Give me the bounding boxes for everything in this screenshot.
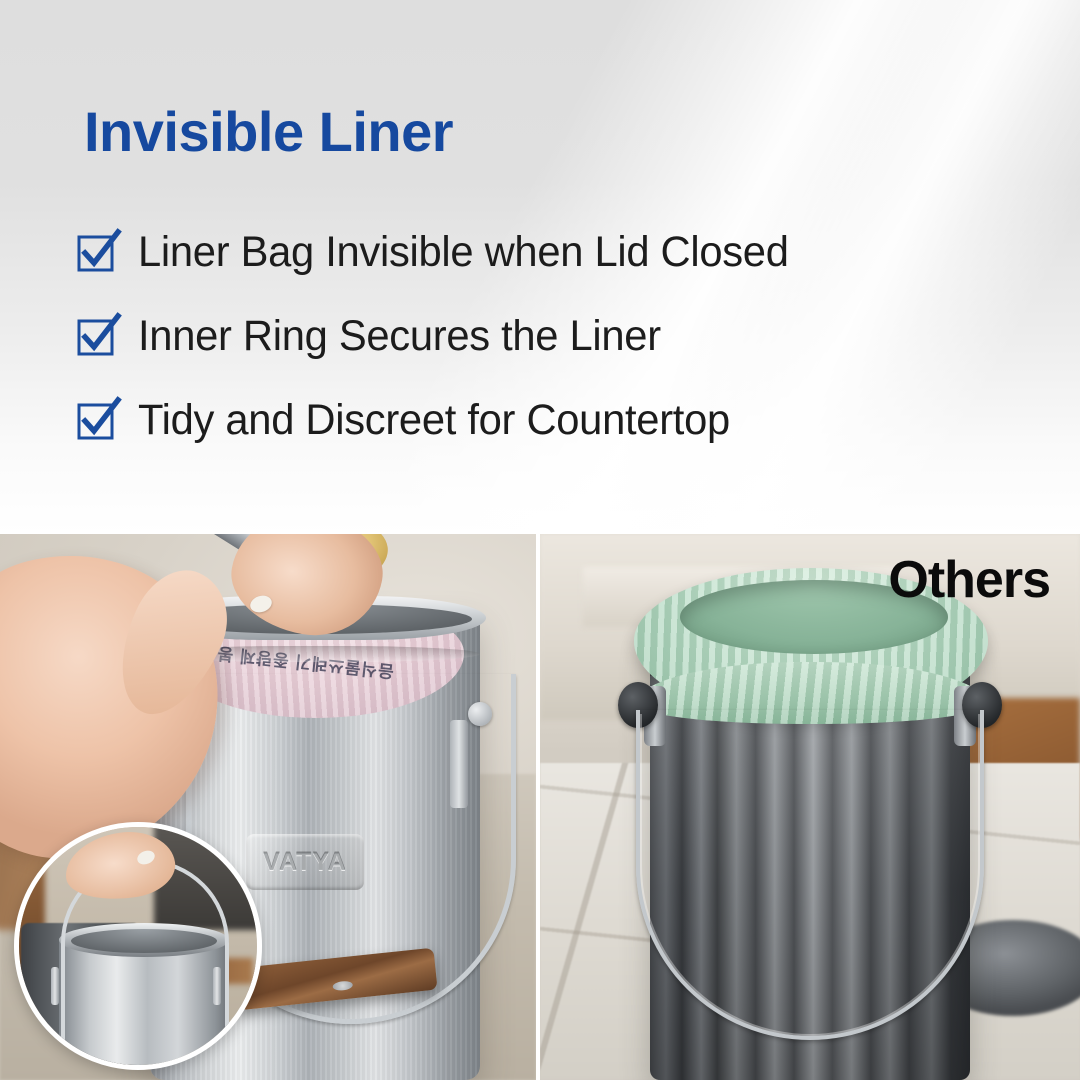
photo-divider — [536, 534, 540, 1080]
feature-item: Liner Bag Invisible when Lid Closed — [76, 222, 1036, 282]
comparison-pane-others: Others — [540, 534, 1080, 1080]
feature-item: Inner Ring Secures the Liner — [76, 306, 1036, 366]
handle-bracket — [450, 720, 468, 808]
page-title: Invisible Liner — [84, 104, 453, 160]
comparison-pane-vatya: 서 음식물쓰레기 종량제 봉투 VATYA — [0, 534, 536, 1080]
handle-pivot — [468, 702, 492, 726]
inner-ring-inset-photo — [14, 822, 262, 1070]
feature-item: Tidy and Discreet for Countertop — [76, 390, 1036, 450]
feature-label: Tidy and Discreet for Countertop — [138, 399, 730, 442]
checkbox-checked-icon — [76, 316, 116, 356]
comparison-photos: 서 음식물쓰레기 종량제 봉투 VATYA — [0, 534, 1080, 1080]
feature-list: Liner Bag Invisible when Lid Closed Inne… — [76, 222, 1036, 474]
checkbox-checked-icon — [76, 232, 116, 272]
feature-label: Inner Ring Secures the Liner — [138, 315, 661, 358]
feature-label: Liner Bag Invisible when Lid Closed — [138, 231, 789, 274]
inset-clip-left — [51, 967, 59, 1005]
product-infographic: Invisible Liner Liner Bag Invisible when… — [0, 0, 1080, 1080]
others-label: Others — [888, 550, 1050, 610]
feature-panel: Invisible Liner Liner Bag Invisible when… — [0, 0, 1080, 534]
checkbox-checked-icon — [76, 400, 116, 440]
